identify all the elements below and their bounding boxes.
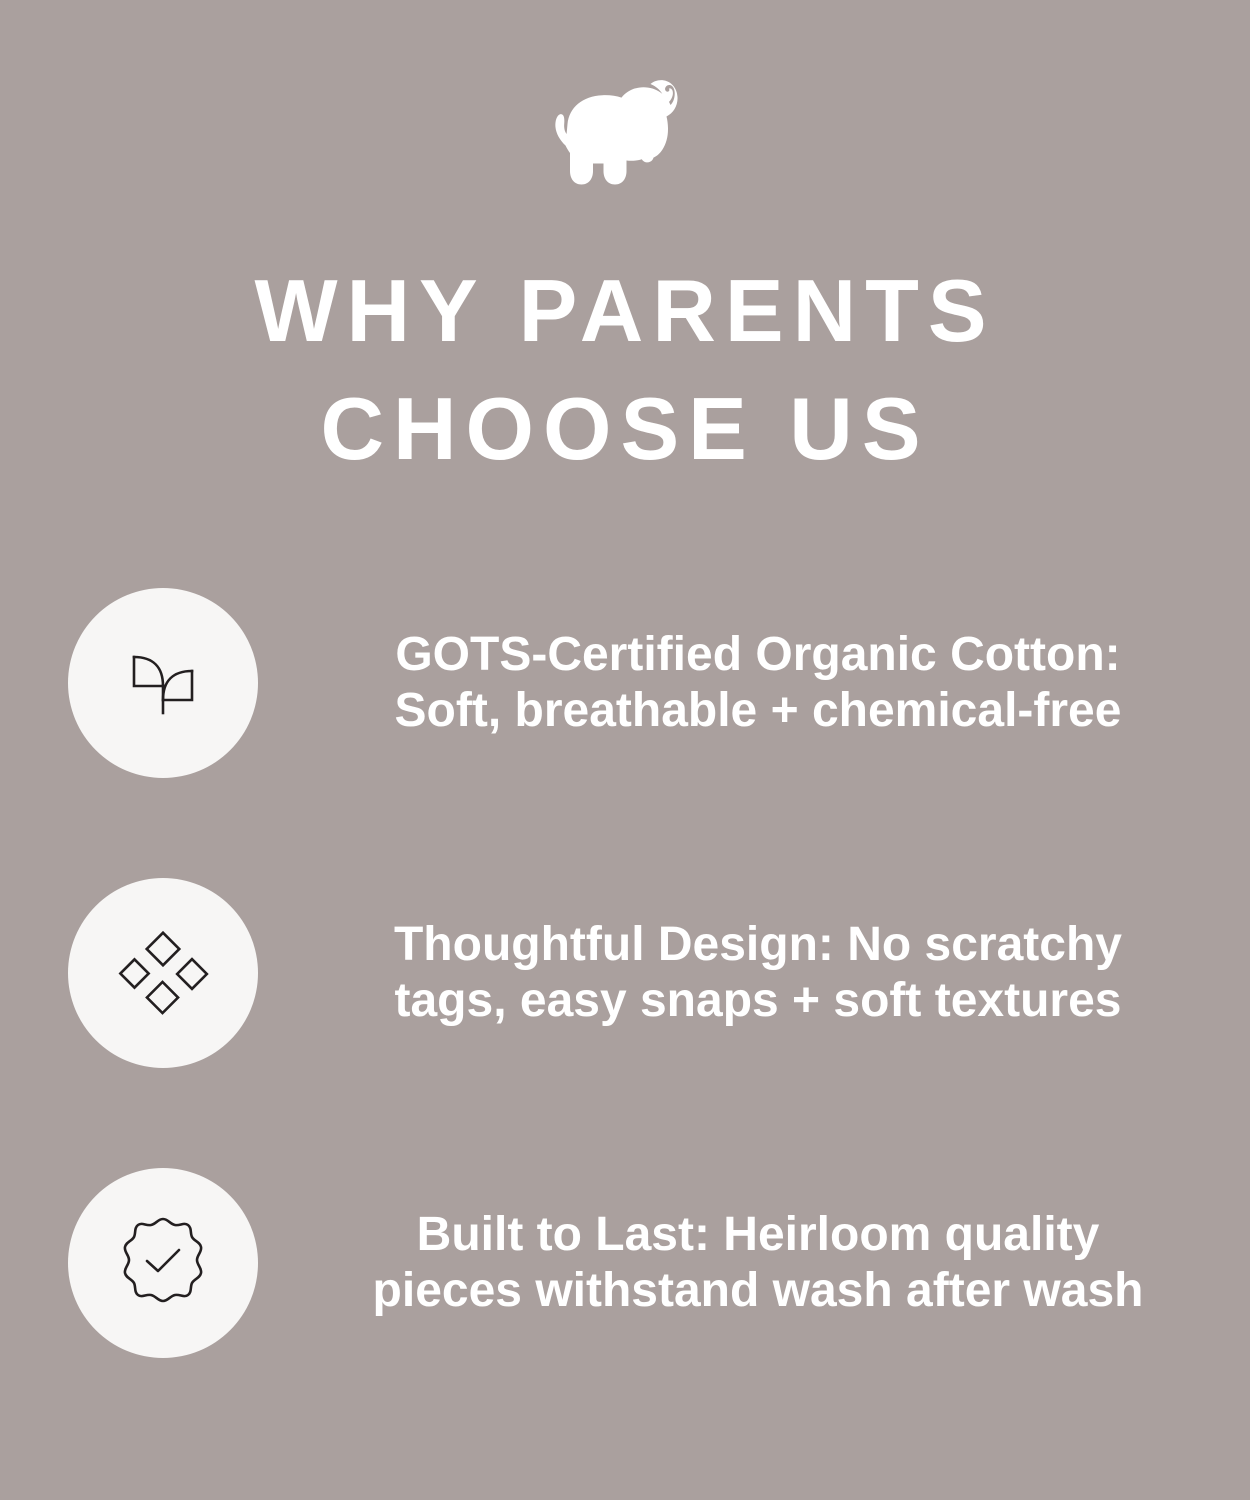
sprout-icon: [115, 635, 211, 731]
headline-line-2: CHOOSE US: [0, 370, 1250, 488]
benefit-text: Built to Last: Heirloom quality pieces w…: [258, 1207, 1250, 1319]
benefit-icon-badge: [68, 588, 258, 778]
benefit-item: GOTS-Certified Organic Cotton: Soft, bre…: [0, 538, 1250, 828]
elephant-icon: [549, 79, 701, 191]
benefit-text-line-1: Thoughtful Design: No scratchy: [310, 917, 1206, 973]
headline-line-1: WHY PARENTS: [0, 252, 1250, 370]
benefit-icon-badge: [68, 878, 258, 1068]
benefit-text-line-2: tags, easy snaps + soft textures: [310, 973, 1206, 1029]
benefit-text-line-2: Soft, breathable + chemical-free: [310, 683, 1206, 739]
benefit-text-line-1: Built to Last: Heirloom quality: [310, 1207, 1206, 1263]
four-diamonds-icon: [115, 925, 211, 1021]
benefits-list: GOTS-Certified Organic Cotton: Soft, bre…: [0, 538, 1250, 1408]
benefit-text-line-2: pieces withstand wash after wash: [310, 1263, 1206, 1319]
benefit-icon-badge: [68, 1168, 258, 1358]
brand-logo: [0, 72, 1250, 197]
benefit-item: Built to Last: Heirloom quality pieces w…: [0, 1118, 1250, 1408]
badge-check-icon: [111, 1211, 215, 1315]
benefit-text: GOTS-Certified Organic Cotton: Soft, bre…: [258, 627, 1250, 739]
benefit-item: Thoughtful Design: No scratchy tags, eas…: [0, 828, 1250, 1118]
benefit-text-line-1: GOTS-Certified Organic Cotton:: [310, 627, 1206, 683]
page-title: WHY PARENTS CHOOSE US: [0, 252, 1250, 488]
benefit-text: Thoughtful Design: No scratchy tags, eas…: [258, 917, 1250, 1029]
